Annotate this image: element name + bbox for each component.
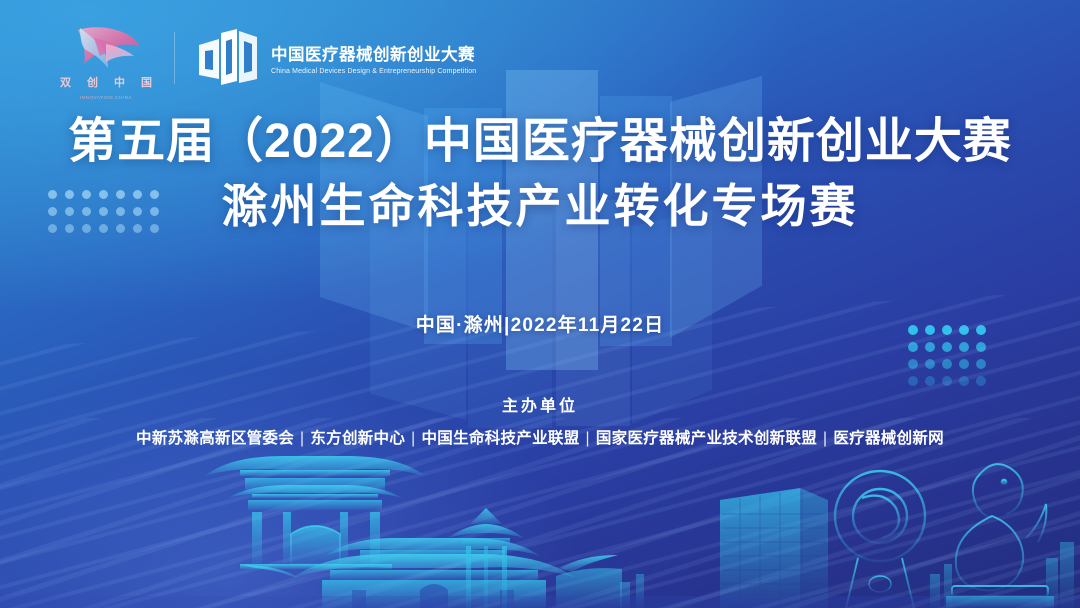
competition-logo-en: China Medical Devices Design & Entrepren… (271, 68, 476, 75)
title-block: 第五届（2022）中国医疗器械创新创业大赛 滁州生命科技产业转化专场赛 (0, 112, 1080, 241)
logo-char: 创 (87, 74, 98, 90)
grid-dot (976, 342, 986, 352)
phoenix-bird-icon (70, 24, 142, 70)
organizer-name: 东方创新中心 (310, 430, 405, 447)
innovation-china-logo: 双 创 中 国 INNOVATION CHINA (60, 24, 152, 92)
logo-char: 国 (141, 74, 152, 90)
grid-dot (925, 376, 935, 386)
organizers-heading: 主办单位 (0, 392, 1080, 416)
main-title-line1: 第五届（2022）中国医疗器械创新创业大赛 (0, 112, 1080, 172)
grid-dot (942, 342, 952, 352)
grid-dot (942, 359, 952, 369)
grid-dot (908, 342, 918, 352)
organizer-separator: | (580, 430, 596, 447)
organizer-name: 中国生命科技产业联盟 (422, 430, 580, 447)
merlion-statue (946, 464, 1054, 608)
grid-dot (925, 359, 935, 369)
grid-dot (976, 359, 986, 369)
grid-dot (959, 376, 969, 386)
grid-dot (925, 342, 935, 352)
ring-sculpture (835, 471, 925, 608)
city-skyline-illustration (0, 438, 1080, 608)
logo-divider (174, 32, 175, 84)
grid-dot (908, 376, 918, 386)
grid-dot (908, 359, 918, 369)
organizer-name: 国家医疗器械产业技术创新联盟 (596, 430, 817, 447)
innovation-china-cn: 双 创 中 国 (60, 74, 152, 90)
logo-char: 双 (60, 74, 71, 90)
grid-dot (976, 376, 986, 386)
open-door-mark-icon (197, 29, 259, 87)
poster-canvas: 双 创 中 国 INNOVATION CHINA 中国医疗器械创新创业大赛 Ch… (0, 0, 1080, 608)
organizer-separator: | (294, 430, 310, 447)
competition-logo: 中国医疗器械创新创业大赛 China Medical Devices Desig… (197, 29, 476, 87)
innovation-china-en: INNOVATION CHINA (60, 95, 152, 100)
grid-dot (959, 359, 969, 369)
header-logos: 双 创 中 国 INNOVATION CHINA 中国医疗器械创新创业大赛 Ch… (60, 24, 476, 92)
dateline: 中国·滁州|2022年11月22日 (0, 310, 1080, 337)
competition-logo-cn: 中国医疗器械创新创业大赛 (271, 41, 476, 65)
grid-dot (942, 376, 952, 386)
organizer-name: 中新苏滁高新区管委会 (136, 430, 294, 447)
organizer-separator: | (405, 430, 421, 447)
organizers-list: 中新苏滁高新区管委会|东方创新中心|中国生命科技产业联盟|国家医疗器械产业技术创… (0, 426, 1080, 448)
organizer-separator: | (817, 430, 833, 447)
grid-dot (959, 342, 969, 352)
logo-char: 中 (114, 74, 125, 90)
main-title-line2: 滁州生命科技产业转化专场赛 (0, 172, 1080, 241)
organizer-name: 医疗器械创新网 (833, 430, 944, 447)
modern-office-tower (720, 488, 828, 608)
